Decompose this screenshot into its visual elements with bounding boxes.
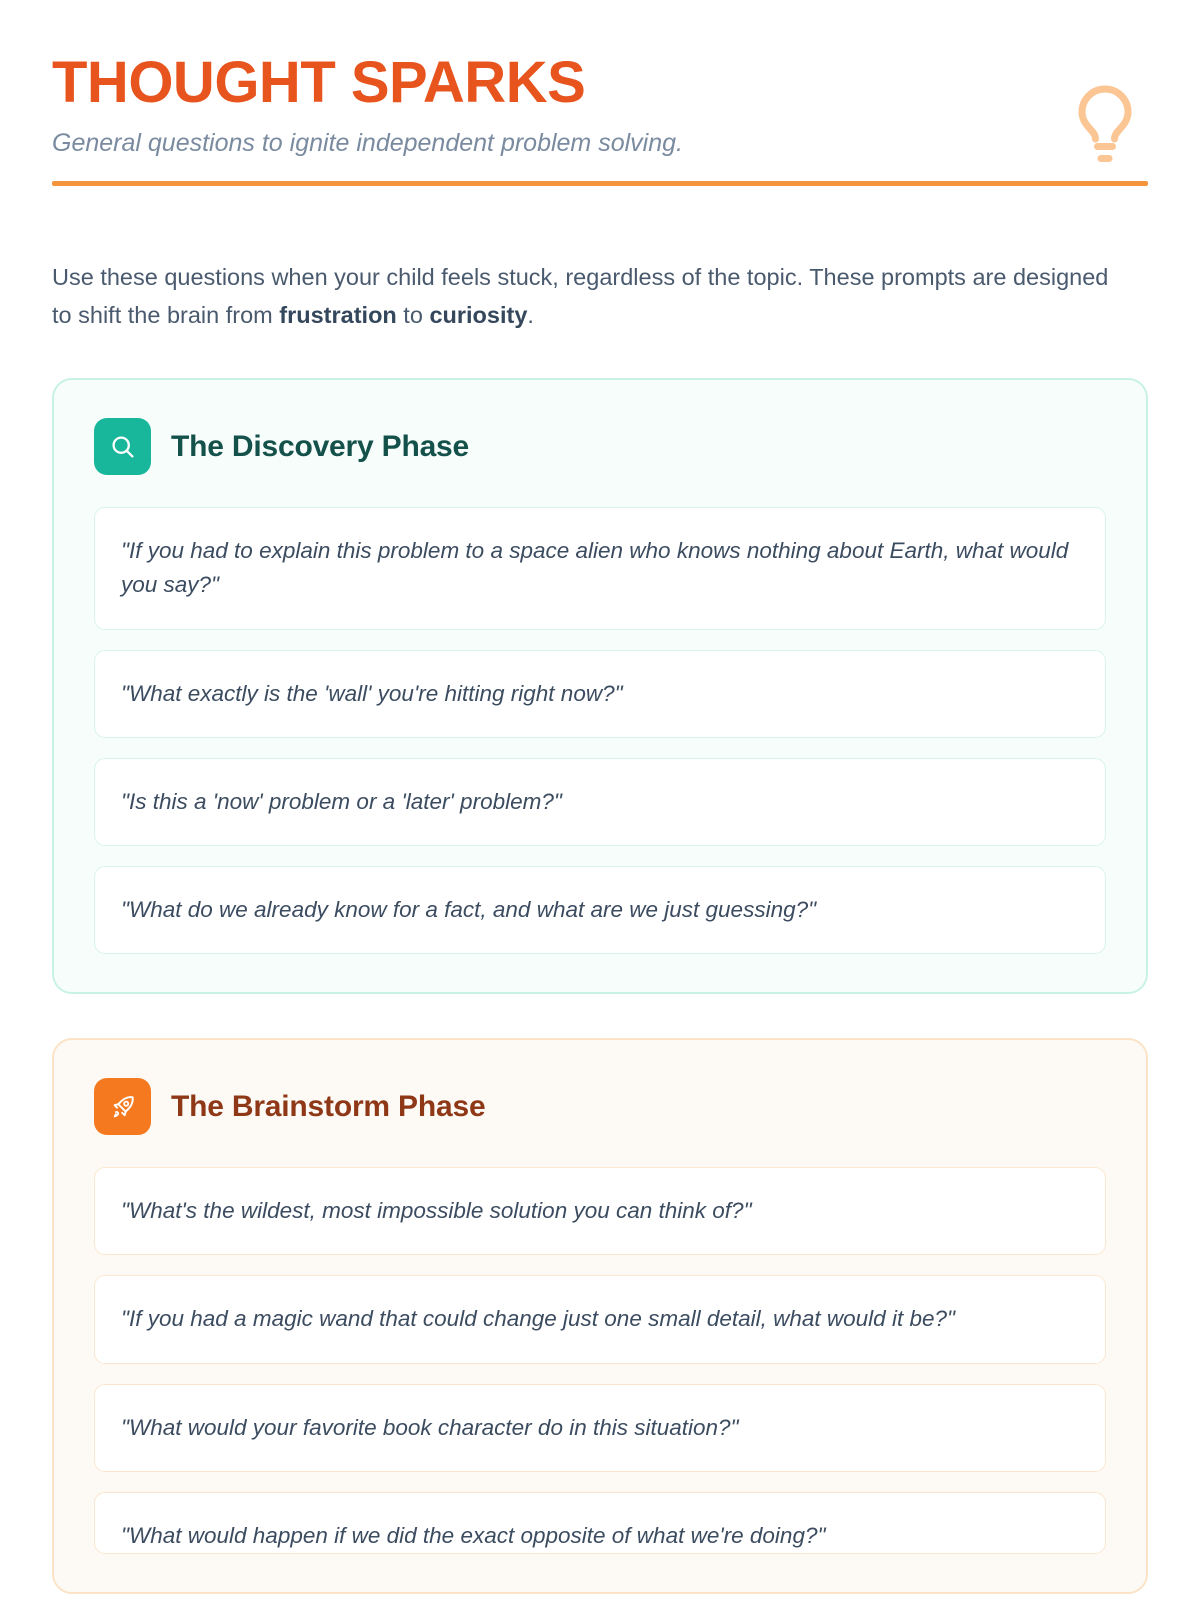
page-title: THOUGHT SPARKS (52, 52, 1148, 115)
worksheet-page: THOUGHT SPARKS General questions to igni… (0, 0, 1200, 1600)
question-item[interactable]: "What would your favorite book character… (94, 1384, 1106, 1472)
intro-text-2: to (397, 302, 430, 328)
lightbulb-icon (1068, 80, 1142, 164)
section-title-discovery: The Discovery Phase (171, 430, 469, 464)
question-item[interactable]: "If you had to explain this problem to a… (94, 507, 1106, 629)
question-item[interactable]: "What's the wildest, most impossible sol… (94, 1167, 1106, 1255)
question-list-brainstorm: "What's the wildest, most impossible sol… (94, 1167, 1106, 1554)
rocket-icon (94, 1078, 151, 1135)
section-header-discovery: The Discovery Phase (94, 418, 1106, 475)
section-header-brainstorm: The Brainstorm Phase (94, 1078, 1106, 1135)
question-item[interactable]: "What exactly is the 'wall' you're hitti… (94, 650, 1106, 738)
page-header: THOUGHT SPARKS General questions to igni… (52, 52, 1148, 208)
question-item[interactable]: "Is this a 'now' problem or a 'later' pr… (94, 758, 1106, 846)
question-item[interactable]: "What would happen if we did the exact o… (94, 1492, 1106, 1554)
section-card-discovery: The Discovery Phase "If you had to expla… (52, 378, 1148, 994)
intro-paragraph: Use these questions when your child feel… (52, 258, 1130, 334)
intro-text-1: Use these questions when your child feel… (52, 264, 1108, 328)
page-subtitle: General questions to ignite independent … (52, 127, 1148, 160)
section-title-brainstorm: The Brainstorm Phase (171, 1090, 485, 1124)
intro-text-3: . (527, 302, 534, 328)
intro-bold-curiosity: curiosity (429, 302, 527, 328)
intro-bold-frustration: frustration (279, 302, 397, 328)
question-item[interactable]: "If you had a magic wand that could chan… (94, 1275, 1106, 1363)
header-divider (52, 181, 1148, 186)
search-icon (94, 418, 151, 475)
question-item[interactable]: "What do we already know for a fact, and… (94, 866, 1106, 954)
section-card-brainstorm: The Brainstorm Phase "What's the wildest… (52, 1038, 1148, 1594)
question-list-discovery: "If you had to explain this problem to a… (94, 507, 1106, 954)
